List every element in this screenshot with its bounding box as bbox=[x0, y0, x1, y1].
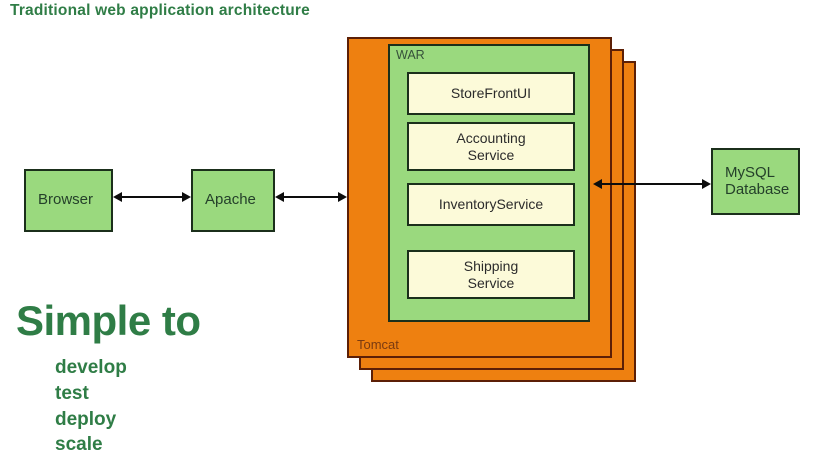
caption-heading: Simple to bbox=[16, 297, 201, 345]
node-mysql-database: MySQL Database bbox=[711, 148, 800, 215]
node-label-2: Database bbox=[725, 181, 789, 198]
list-item: develop bbox=[55, 355, 127, 381]
list-item: deploy bbox=[55, 407, 127, 433]
diagram-canvas: Traditional web application architecture… bbox=[0, 0, 816, 465]
service-label: InventoryService bbox=[439, 196, 543, 212]
service-label: Accounting bbox=[456, 130, 525, 146]
node-browser: Browser bbox=[24, 169, 113, 232]
war-label: WAR bbox=[396, 48, 425, 62]
list-item: scale bbox=[55, 432, 127, 458]
node-label: MySQL bbox=[725, 164, 775, 181]
service-label-2: Service bbox=[468, 147, 515, 163]
node-label: Apache bbox=[205, 192, 256, 209]
service-box-inventoryservice: InventoryService bbox=[407, 183, 575, 226]
service-label: StoreFrontUI bbox=[451, 85, 531, 101]
service-box-shippingservice: Shipping Service bbox=[407, 250, 575, 299]
node-apache: Apache bbox=[191, 169, 275, 232]
service-box-accountingservice: Accounting Service bbox=[407, 122, 575, 171]
caption-list: develop test deploy scale bbox=[55, 355, 127, 458]
service-box-storefrontui: StoreFrontUI bbox=[407, 72, 575, 115]
service-label: Shipping bbox=[464, 258, 519, 274]
tomcat-label: Tomcat bbox=[357, 337, 399, 352]
page-title: Traditional web application architecture bbox=[10, 2, 310, 20]
service-label-2: Service bbox=[468, 275, 515, 291]
list-item: test bbox=[55, 381, 127, 407]
node-label: Browser bbox=[38, 192, 93, 209]
